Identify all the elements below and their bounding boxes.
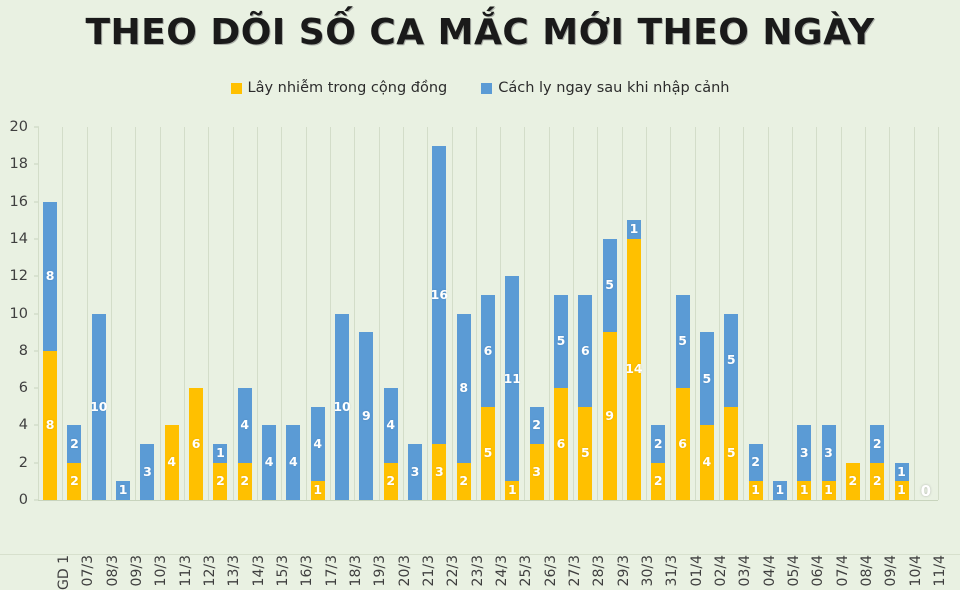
vertical-gridline	[524, 127, 525, 500]
bar-column[interactable]: 3	[140, 444, 154, 500]
x-axis-tick-label: 11/4	[932, 555, 948, 586]
bar-segment-quarantine[interactable]: 1	[213, 444, 227, 463]
bar-column[interactable]: 55	[724, 314, 738, 501]
bar-segment-quarantine[interactable]: 2	[67, 425, 81, 462]
bar-value-label: 1	[313, 484, 322, 497]
bar-value-label: 8	[46, 270, 55, 283]
legend-item-quarantine[interactable]: Cách ly ngay sau khi nhập cảnh	[481, 80, 729, 96]
bar-segment-community[interactable]: 2	[651, 463, 665, 500]
y-axis-tick-label: 4	[19, 417, 28, 433]
bar-value-label: 5	[581, 447, 590, 460]
bar-column[interactable]: 56	[481, 295, 495, 500]
bar-value-label: 2	[386, 475, 395, 488]
vertical-gridline	[111, 127, 112, 500]
x-axis-tick-label: 04/4	[762, 555, 778, 586]
bar-segment-quarantine[interactable]: 5	[724, 314, 738, 407]
vertical-gridline	[719, 127, 720, 500]
bar-column[interactable]: 13	[822, 425, 836, 500]
bar-segment-quarantine[interactable]: 2	[651, 425, 665, 462]
bar-segment-quarantine[interactable]: 11	[505, 276, 519, 481]
vertical-gridline	[403, 127, 404, 500]
vertical-gridline	[427, 127, 428, 500]
bar-segment-community[interactable]: 2	[457, 463, 471, 500]
vertical-gridline	[841, 127, 842, 500]
bar-value-label: 4	[386, 419, 395, 432]
x-axis-tick-label: 11/3	[178, 555, 194, 586]
bar-segment-quarantine[interactable]: 9	[359, 332, 373, 500]
x-axis-tick-label: 08/4	[859, 555, 875, 586]
bar-segment-quarantine[interactable]: 3	[140, 444, 154, 500]
vertical-gridline	[597, 127, 598, 500]
vertical-gridline	[38, 127, 39, 500]
bar-value-label: 5	[703, 373, 712, 386]
bar-value-label: 1	[776, 484, 785, 497]
bar-value-label: 3	[411, 466, 420, 479]
bar-value-label: 11	[504, 373, 521, 386]
bar-value-label: 3	[435, 466, 444, 479]
bar-value-label: 1	[800, 484, 809, 497]
bar-segment-community[interactable]: 3	[530, 444, 544, 500]
x-axis-tick-label: 06/4	[810, 555, 826, 586]
x-axis-tick-label: 10/3	[153, 555, 169, 586]
bar-column[interactable]: 10	[92, 314, 106, 501]
bar-segment-community[interactable]: 1	[749, 481, 763, 500]
y-axis-tick-label: 16	[10, 194, 28, 210]
bar-segment-quarantine[interactable]: 5	[700, 332, 714, 425]
bar-segment-quarantine[interactable]: 16	[432, 146, 446, 444]
bar-segment-community[interactable]: 2	[67, 463, 81, 500]
bar-column[interactable]: 111	[505, 276, 519, 500]
bar-value-label: 2	[873, 475, 882, 488]
x-axis-tick-label: 29/3	[616, 555, 632, 586]
bar-column[interactable]: 4	[286, 425, 300, 500]
x-axis-tick-label: 28/3	[591, 555, 607, 586]
bar-column[interactable]: 45	[700, 332, 714, 500]
bar-column[interactable]: 56	[578, 295, 592, 500]
bottom-divider	[0, 554, 960, 555]
bar-value-label: 2	[532, 419, 541, 432]
vertical-gridline	[768, 127, 769, 500]
x-axis-tick-label: 30/3	[640, 555, 656, 586]
bar-value-label: 1	[216, 447, 225, 460]
bar-value-label: 5	[484, 447, 493, 460]
x-axis-tick-label: 09/3	[129, 555, 145, 586]
bar-segment-quarantine[interactable]: 1	[116, 481, 130, 500]
x-axis-tick-label: 02/4	[713, 555, 729, 586]
vertical-gridline	[500, 127, 501, 500]
bar-value-label: 2	[873, 438, 882, 451]
bar-segment-community[interactable]: 8	[43, 351, 57, 500]
vertical-gridline	[670, 127, 671, 500]
y-axis-tick-label: 20	[10, 119, 28, 135]
vertical-gridline	[330, 127, 331, 500]
bar-value-label: 3	[800, 447, 809, 460]
x-axis-tick-label: 31/3	[664, 555, 680, 586]
bar-column[interactable]: 24	[238, 388, 252, 500]
y-axis-tick-label: 0	[19, 492, 28, 508]
bar-column[interactable]: 2	[846, 463, 860, 500]
bar-value-label: 6	[557, 438, 566, 451]
bar-segment-quarantine[interactable]: 3	[797, 425, 811, 481]
chart-container: THEO DÕI SỐ CA MẮC MỚI THEO NGÀY Lây nhi…	[0, 0, 960, 561]
bar-value-label: 1	[824, 484, 833, 497]
bar-segment-community[interactable]: 1	[822, 481, 836, 500]
bar-column[interactable]: 1	[773, 481, 787, 500]
bar-value-label: 4	[265, 456, 274, 469]
bar-value-label: 6	[484, 345, 493, 358]
bar-segment-quarantine[interactable]: 5	[676, 295, 690, 388]
bar-segment-quarantine[interactable]: 4	[262, 425, 276, 500]
x-axis-tick-label: 23/3	[470, 555, 486, 586]
y-axis-tick-label: 14	[10, 231, 28, 247]
vertical-gridline	[816, 127, 817, 500]
bar-segment-community[interactable]: 6	[676, 388, 690, 500]
vertical-gridline	[792, 127, 793, 500]
bar-value-label: 4	[167, 456, 176, 469]
x-axis-labels: GD 107/308/309/310/311/312/313/314/315/3…	[38, 503, 938, 561]
x-axis-tick-label: 18/3	[348, 555, 364, 586]
bar-column[interactable]: 95	[603, 239, 617, 500]
bar-segment-community[interactable]: 14	[627, 239, 641, 500]
bar-value-label: 5	[727, 447, 736, 460]
vertical-gridline	[379, 127, 380, 500]
bar-value-label: 9	[605, 410, 614, 423]
vertical-gridline	[135, 127, 136, 500]
legend-label: Cách ly ngay sau khi nhập cảnh	[498, 80, 729, 96]
bar-segment-community[interactable]: 6	[189, 388, 203, 500]
x-axis-tick-label: 25/3	[518, 555, 534, 586]
bar-column[interactable]: 11	[895, 463, 909, 500]
bar-segment-community[interactable]: 2	[213, 463, 227, 500]
bar-value-label: 2	[216, 475, 225, 488]
bar-value-label: 2	[70, 438, 79, 451]
bar-segment-community[interactable]: 2	[384, 463, 398, 500]
y-axis-tick-label: 2	[19, 455, 28, 471]
bar-value-label: 2	[240, 475, 249, 488]
bar-value-label: 2	[70, 475, 79, 488]
bar-segment-quarantine[interactable]: 2	[870, 425, 884, 462]
bar-value-label-zero: 0	[921, 482, 931, 500]
bar-segment-community[interactable]: 2	[238, 463, 252, 500]
bar-value-label: 2	[849, 475, 858, 488]
bar-segment-community[interactable]: 5	[481, 407, 495, 500]
bar-value-label: 3	[824, 447, 833, 460]
y-axis-tick-label: 12	[10, 268, 28, 284]
bar-column[interactable]: 32	[530, 407, 544, 500]
bar-segment-quarantine[interactable]: 10	[335, 314, 349, 501]
bar-segment-quarantine[interactable]: 5	[603, 239, 617, 332]
y-axis-tick-label: 10	[10, 306, 28, 322]
chart-title: THEO DÕI SỐ CA MẮC MỚI THEO NGÀY	[0, 12, 960, 53]
bar-segment-community[interactable]: 4	[700, 425, 714, 500]
x-axis-tick-label: 07/4	[835, 555, 851, 586]
bar-segment-quarantine[interactable]: 5	[554, 295, 568, 388]
x-axis-tick-label: 22/3	[445, 555, 461, 586]
vertical-gridline	[208, 127, 209, 500]
bar-value-label: 5	[605, 279, 614, 292]
legend-swatch-icon	[231, 83, 242, 94]
bar-segment-community[interactable]: 3	[432, 444, 446, 500]
bar-segment-quarantine[interactable]: 8	[457, 314, 471, 463]
bar-segment-community[interactable]: 1	[895, 481, 909, 500]
vertical-gridline	[62, 127, 63, 500]
bar-value-label: 9	[362, 410, 371, 423]
bar-column[interactable]: 9	[359, 332, 373, 500]
x-axis-tick-label: 05/4	[786, 555, 802, 586]
bar-column[interactable]: 3	[408, 444, 422, 500]
bar-value-label: 4	[289, 456, 298, 469]
bar-segment-quarantine[interactable]: 4	[384, 388, 398, 463]
vertical-gridline	[233, 127, 234, 500]
x-axis-tick-label: 10/4	[908, 555, 924, 586]
x-axis-tick-label: 17/3	[324, 555, 340, 586]
bar-segment-community[interactable]: 5	[578, 407, 592, 500]
vertical-gridline	[889, 127, 890, 500]
x-axis-tick-label: 26/3	[543, 555, 559, 586]
bar-value-label: 2	[654, 475, 663, 488]
bar-value-label: 6	[678, 438, 687, 451]
x-axis-tick-label: 15/3	[275, 555, 291, 586]
x-axis-tick-label: 21/3	[421, 555, 437, 586]
bar-value-label: 4	[240, 419, 249, 432]
vertical-gridline	[184, 127, 185, 500]
vertical-gridline	[87, 127, 88, 500]
bar-value-label: 2	[751, 456, 760, 469]
bar-column[interactable]: 21	[213, 444, 227, 500]
bar-value-label: 5	[678, 335, 687, 348]
bar-segment-community[interactable]: 1	[311, 481, 325, 500]
x-axis-tick-label: 20/3	[397, 555, 413, 586]
x-axis-tick-label: 07/3	[80, 555, 96, 586]
x-axis-tick-label: 08/3	[105, 555, 121, 586]
bar-value-label: 1	[751, 484, 760, 497]
y-axis-tick-label: 8	[19, 343, 28, 359]
vertical-gridline	[695, 127, 696, 500]
bar-segment-quarantine[interactable]: 3	[408, 444, 422, 500]
bar-segment-quarantine[interactable]: 6	[481, 295, 495, 407]
bar-value-label: 16	[431, 289, 448, 302]
bar-value-label: 5	[557, 335, 566, 348]
bar-column[interactable]: 4	[165, 425, 179, 500]
bar-value-label: 1	[897, 466, 906, 479]
bar-value-label: 6	[581, 345, 590, 358]
bar-segment-quarantine[interactable]: 1	[773, 481, 787, 500]
bar-column[interactable]: 13	[797, 425, 811, 500]
x-axis-tick-label: 09/4	[883, 555, 899, 586]
bar-segment-community[interactable]: 2	[870, 463, 884, 500]
bar-segment-quarantine[interactable]: 1	[627, 220, 641, 239]
x-axis-tick-label: 16/3	[299, 555, 315, 586]
bar-value-label: 8	[46, 419, 55, 432]
bar-column[interactable]: 12	[749, 444, 763, 500]
bar-column[interactable]: 14	[311, 407, 325, 500]
vertical-gridline	[938, 127, 939, 500]
x-axis-tick-label: 27/3	[567, 555, 583, 586]
x-axis-tick-label: 03/4	[737, 555, 753, 586]
bar-column[interactable]: 22	[67, 425, 81, 500]
bar-column[interactable]: 88	[43, 202, 57, 500]
bar-value-label: 4	[703, 456, 712, 469]
vertical-gridline	[281, 127, 282, 500]
bar-segment-quarantine[interactable]: 10	[92, 314, 106, 501]
bar-segment-quarantine[interactable]: 4	[286, 425, 300, 500]
vertical-gridline	[865, 127, 866, 500]
x-axis-tick-label: GD 1	[56, 555, 72, 590]
bar-column[interactable]: 22	[870, 425, 884, 500]
bar-segment-community[interactable]: 6	[554, 388, 568, 500]
x-axis-tick-label: 01/4	[689, 555, 705, 586]
y-axis-tick-label: 18	[10, 156, 28, 172]
bar-column[interactable]: 10	[335, 314, 349, 501]
bar-segment-quarantine[interactable]: 4	[311, 407, 325, 482]
bar-value-label: 2	[459, 475, 468, 488]
legend-item-community[interactable]: Lây nhiễm trong cộng đồng	[231, 80, 448, 96]
chart-legend: Lây nhiễm trong cộng đồngCách ly ngay sa…	[0, 80, 960, 96]
vertical-gridline	[622, 127, 623, 500]
bar-segment-quarantine[interactable]: 3	[822, 425, 836, 481]
bar-value-label: 6	[192, 438, 201, 451]
bar-segment-quarantine[interactable]: 4	[238, 388, 252, 463]
vertical-gridline	[160, 127, 161, 500]
bar-column[interactable]: 24	[384, 388, 398, 500]
bar-segment-quarantine[interactable]: 8	[43, 202, 57, 351]
bar-column[interactable]: 1	[116, 481, 130, 500]
x-axis-tick-label: 19/3	[372, 555, 388, 586]
bar-value-label: 10	[333, 401, 350, 414]
vertical-gridline	[646, 127, 647, 500]
x-axis-tick-label: 14/3	[251, 555, 267, 586]
bar-value-label: 8	[459, 382, 468, 395]
vertical-gridline	[573, 127, 574, 500]
bar-value-label: 10	[90, 401, 107, 414]
bar-value-label: 1	[508, 484, 517, 497]
bar-value-label: 1	[897, 484, 906, 497]
bar-segment-quarantine[interactable]: 6	[578, 295, 592, 407]
bar-value-label: 2	[654, 438, 663, 451]
bar-column[interactable]: 4	[262, 425, 276, 500]
bar-segment-community[interactable]: 9	[603, 332, 617, 500]
x-axis-line	[38, 500, 938, 501]
bar-segment-community[interactable]: 1	[505, 481, 519, 500]
bar-column[interactable]: 65	[554, 295, 568, 500]
legend-label: Lây nhiễm trong cộng đồng	[248, 80, 448, 96]
bar-segment-community[interactable]: 2	[846, 463, 860, 500]
vertical-gridline	[549, 127, 550, 500]
bar-value-label: 3	[532, 466, 541, 479]
bar-column[interactable]: 28	[457, 314, 471, 501]
bar-value-label: 1	[630, 223, 639, 236]
vertical-gridline	[257, 127, 258, 500]
bar-value-label: 4	[313, 438, 322, 451]
bar-segment-quarantine[interactable]: 1	[895, 463, 909, 482]
bar-column[interactable]: 65	[676, 295, 690, 500]
bar-segment-community[interactable]: 1	[797, 481, 811, 500]
bar-value-label: 14	[625, 363, 642, 376]
bar-segment-quarantine[interactable]: 2	[749, 444, 763, 481]
vertical-gridline	[306, 127, 307, 500]
bar-column[interactable]: 6	[189, 388, 203, 500]
x-axis-tick-label: 24/3	[494, 555, 510, 586]
bar-value-label: 5	[727, 354, 736, 367]
vertical-gridline	[476, 127, 477, 500]
legend-swatch-icon	[481, 83, 492, 94]
bar-segment-community[interactable]: 5	[724, 407, 738, 500]
vertical-gridline	[743, 127, 744, 500]
x-axis-tick-label: 12/3	[202, 555, 218, 586]
plot-area: 8822101346212444141092433162856111326556…	[38, 127, 938, 500]
y-axis-tick-label: 6	[19, 380, 28, 396]
bar-column[interactable]: 22	[651, 425, 665, 500]
vertical-gridline	[354, 127, 355, 500]
bar-column[interactable]: 316	[432, 146, 446, 500]
vertical-gridline	[914, 127, 915, 500]
x-axis-tick-label: 13/3	[226, 555, 242, 586]
y-axis: 02468101214161820	[0, 127, 34, 500]
bar-value-label: 3	[143, 466, 152, 479]
vertical-gridline	[452, 127, 453, 500]
bar-segment-community[interactable]: 4	[165, 425, 179, 500]
bar-column[interactable]: 141	[627, 220, 641, 500]
bar-value-label: 1	[119, 484, 128, 497]
bar-segment-quarantine[interactable]: 2	[530, 407, 544, 444]
